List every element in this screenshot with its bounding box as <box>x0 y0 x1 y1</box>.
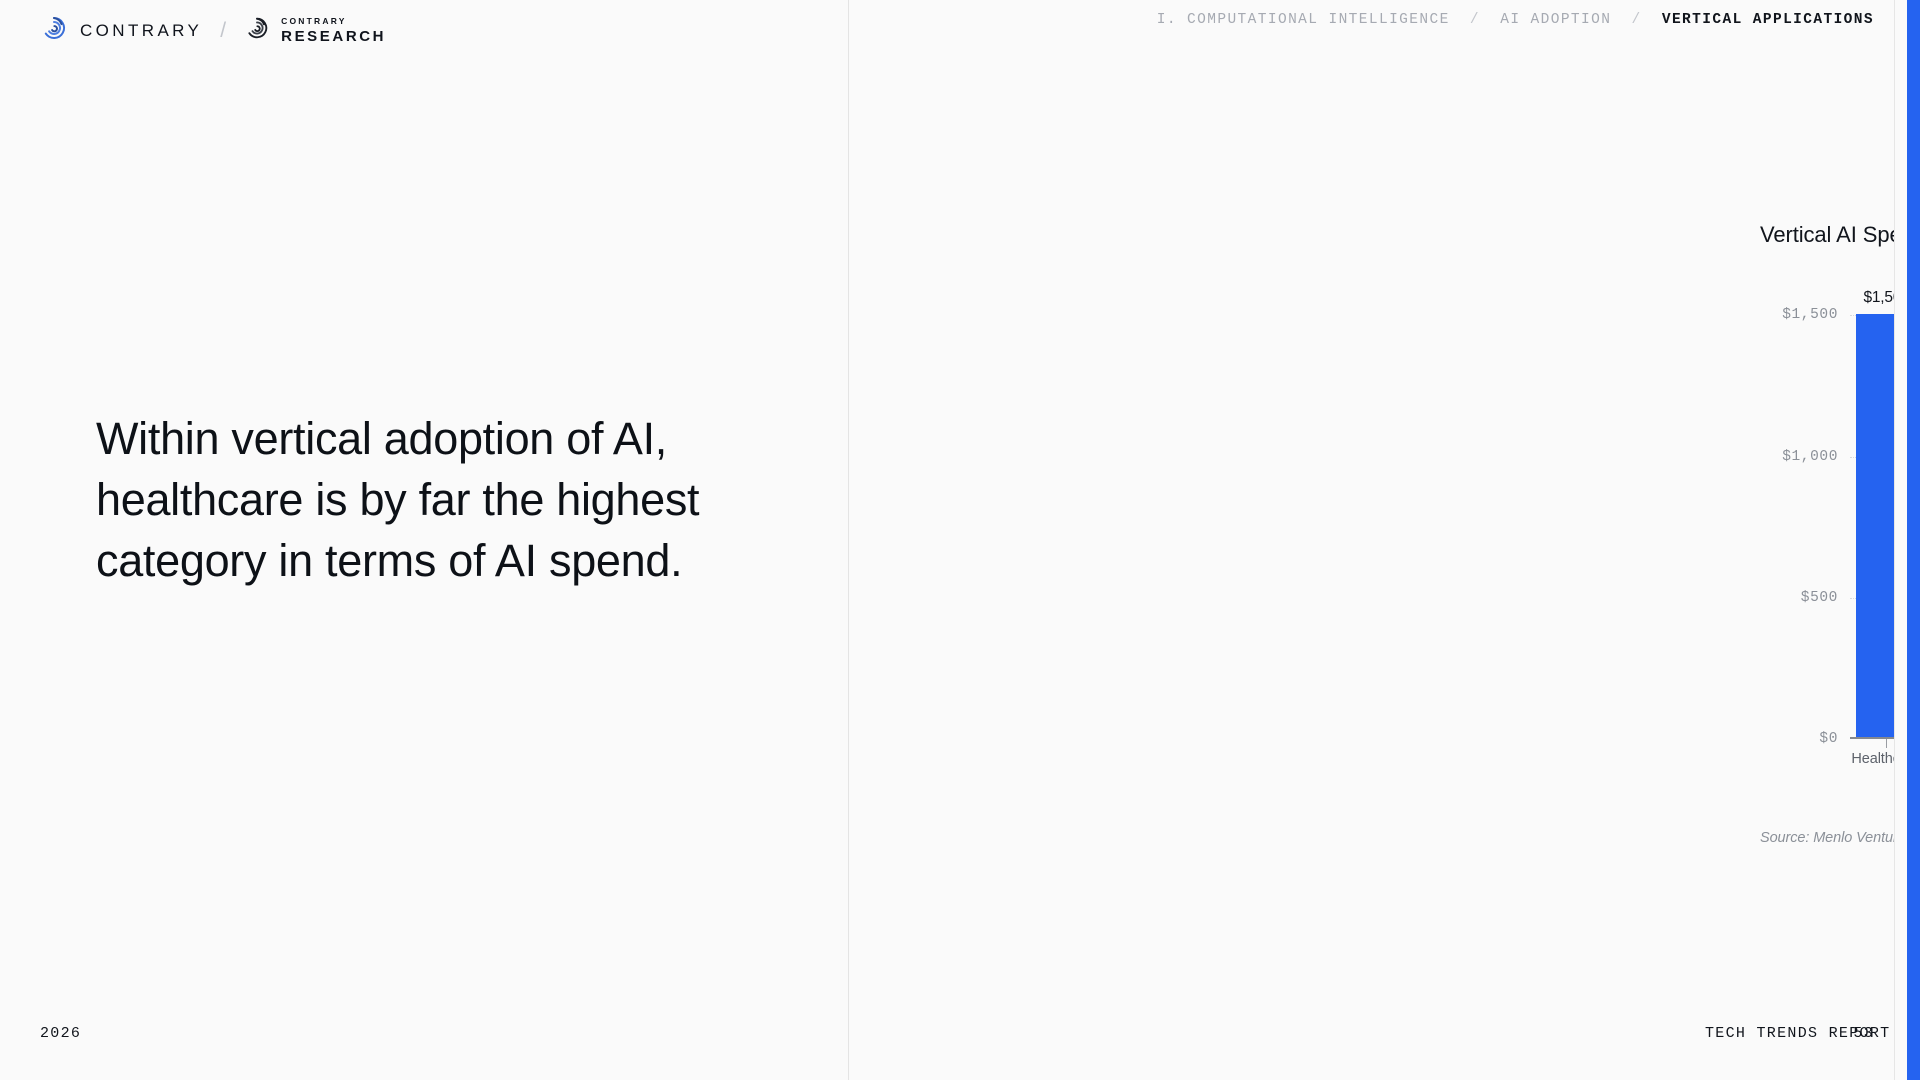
breadcrumb-item-0[interactable]: I. COMPUTATIONAL INTELLIGENCE <box>1157 12 1450 28</box>
footer-page-number: 53 <box>1853 1025 1874 1042</box>
y-tick-label: $1,500 <box>1782 307 1838 323</box>
contrary-wordmark: CONTRARY <box>80 21 202 41</box>
y-tick-label: $500 <box>1801 590 1838 606</box>
brand-separator: / <box>220 19 226 43</box>
y-axis: $0$500$1,000$1,500 <box>1760 273 1838 739</box>
breadcrumb-item-2[interactable]: VERTICAL APPLICATIONS <box>1662 12 1874 28</box>
breadcrumb: I. COMPUTATIONAL INTELLIGENCE / AI ADOPT… <box>1157 12 1874 28</box>
page-scrollbar-thumb[interactable] <box>1907 0 1920 1080</box>
contrary-logo[interactable]: CONTRARY <box>40 14 202 47</box>
footer-year: 2026 <box>40 1025 81 1042</box>
page-title: Within vertical adoption of AI, healthca… <box>96 408 756 592</box>
contrary-research-spiral-icon <box>244 15 270 46</box>
slide-root: CONTRARY / CONTRARY RESEARCH With <box>0 0 1920 1080</box>
research-wordmark: RESEARCH <box>281 29 386 44</box>
y-tick-label: $1,000 <box>1782 449 1838 465</box>
breadcrumb-separator-0: / <box>1450 12 1501 28</box>
contrary-spiral-icon <box>40 14 68 47</box>
brand-lockup: CONTRARY / CONTRARY RESEARCH <box>40 14 386 47</box>
y-tick-label: $0 <box>1819 731 1838 747</box>
research-eyebrow: CONTRARY <box>281 17 386 26</box>
right-panel: I. COMPUTATIONAL INTELLIGENCE / AI ADOPT… <box>849 0 1920 1080</box>
left-panel: CONTRARY / CONTRARY RESEARCH With <box>0 0 849 1080</box>
contrary-research-logo[interactable]: CONTRARY RESEARCH <box>244 15 386 46</box>
page-scrollbar-track[interactable] <box>1894 0 1920 1080</box>
source-note: Source: Menlo Ventures <box>1760 830 1913 846</box>
x-tick-mark <box>1886 739 1887 748</box>
breadcrumb-item-1[interactable]: AI ADOPTION <box>1500 12 1611 28</box>
breadcrumb-separator-1: / <box>1611 12 1662 28</box>
